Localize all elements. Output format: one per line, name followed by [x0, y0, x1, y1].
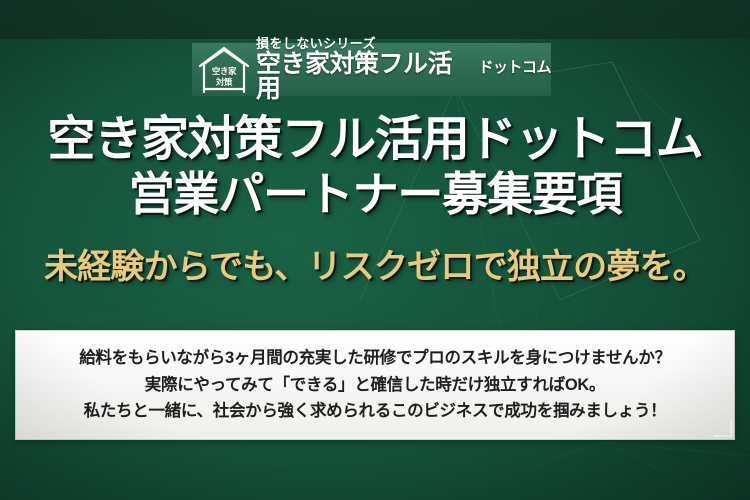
callout-line-1: 給料をもらいながら3ヶ月間の充実した研修でプロのスキルを身につけませんか？ — [79, 345, 671, 372]
brand-name-suffix: ドットコム — [478, 60, 551, 75]
house-outline-icon: 空き家 対策 — [198, 46, 250, 93]
brand-name-main: 空き家対策フル活用 — [256, 52, 476, 102]
callout-box: 給料をもらいながら3ヶ月間の充実した研修でプロのスキルを身につけませんか？ 実際… — [15, 330, 735, 440]
brand-name-row: 空き家対策フル活用 ドットコム — [256, 52, 551, 102]
callout-line-2: 実際にやってみて「できる」と確信した時だけ独立すればOK。 — [145, 372, 605, 399]
subtitle-tagline: 未経験からでも、リスクゼロで独立の夢を。 — [0, 250, 750, 284]
headline-line-2: 営業パートナー募集要項 — [0, 168, 750, 221]
page-title: 空き家対策フル活用ドットコム 営業パートナー募集要項 — [0, 112, 750, 221]
top-band — [0, 0, 750, 39]
recruitment-banner: 空き家 対策 損をしないシリーズ 空き家対策フル活用 ドットコム 空き家対策フル… — [0, 0, 750, 500]
house-mark-line1: 空き家 — [198, 67, 250, 76]
brand-logo-badge: 空き家 対策 損をしないシリーズ 空き家対策フル活用 ドットコム — [192, 43, 551, 96]
callout-line-3: 私たちと一緒に、社会から強く求められるこのビジネスで成功を掴みましょう！ — [84, 398, 667, 425]
brand-series-label: 損をしないシリーズ — [256, 37, 551, 51]
headline-line-1: 空き家対策フル活用ドットコム — [0, 112, 750, 168]
house-mark-line2: 対策 — [198, 78, 250, 87]
brand-logo-text: 損をしないシリーズ 空き家対策フル活用 ドットコム — [256, 37, 551, 102]
